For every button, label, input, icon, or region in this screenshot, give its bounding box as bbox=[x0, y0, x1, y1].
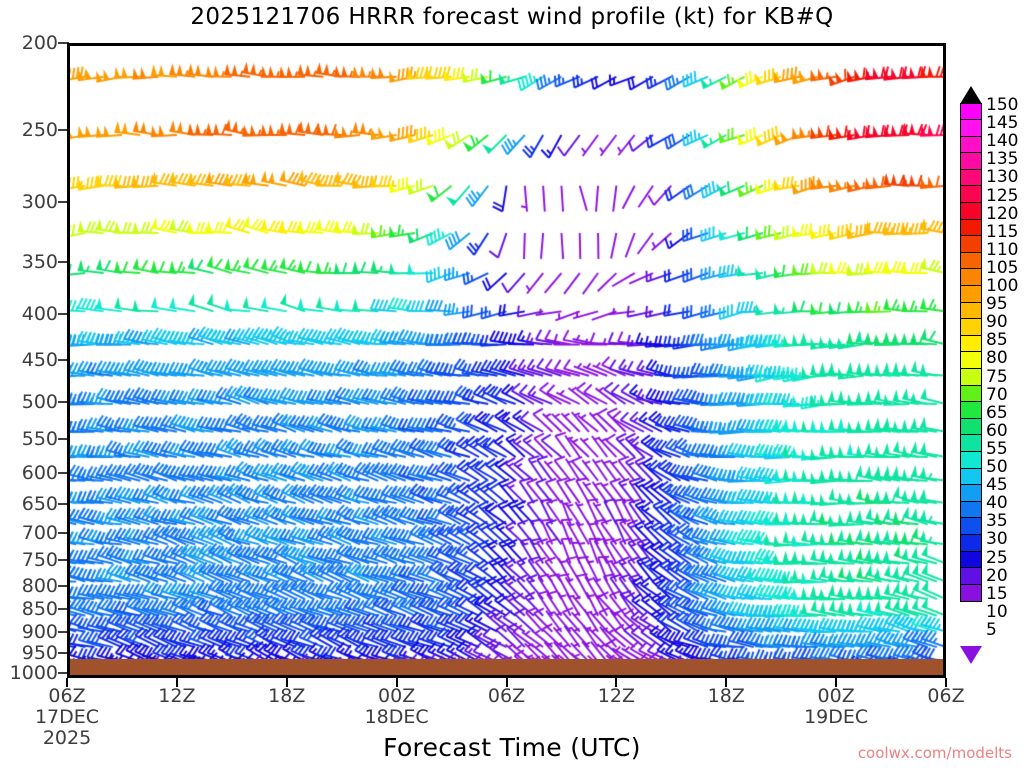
colorbar-cell bbox=[960, 268, 982, 286]
y-tick-label: 500 bbox=[22, 391, 58, 413]
x-tick-date: 18DEC bbox=[365, 706, 429, 728]
colorbar-cell bbox=[960, 335, 982, 353]
colorbar-tick-label: 30 bbox=[986, 529, 1008, 549]
page-title: 2025121706 HRRR forecast wind profile (k… bbox=[0, 4, 1024, 30]
colorbar-under-arrow-icon bbox=[960, 646, 982, 664]
colorbar-tick-label: 110 bbox=[986, 240, 1018, 260]
y-tick-label: 400 bbox=[22, 303, 58, 325]
colorbar-tick-label: 85 bbox=[986, 330, 1008, 350]
colorbar-cell bbox=[960, 418, 982, 436]
colorbar-tick-label: 105 bbox=[986, 258, 1018, 278]
colorbar-tick-label: 90 bbox=[986, 312, 1008, 332]
colorbar-tick-label: 150 bbox=[986, 95, 1018, 115]
x-tick-label: 06Z bbox=[927, 685, 964, 707]
colorbar-tick-label: 125 bbox=[986, 186, 1018, 206]
colorbar-tick-label: 70 bbox=[986, 385, 1008, 405]
x-tick-date: 19DEC bbox=[804, 706, 868, 728]
colorbar-cell bbox=[960, 136, 982, 154]
colorbar-tick-label: 45 bbox=[986, 475, 1008, 495]
x-tick-label: 18Z bbox=[268, 685, 305, 707]
colorbar-cell bbox=[960, 252, 982, 270]
terrain-band bbox=[70, 659, 943, 675]
plot-area[interactable] bbox=[67, 43, 946, 678]
colorbar-cell bbox=[960, 219, 982, 237]
colorbar-tick-label: 35 bbox=[986, 511, 1008, 531]
colorbar-cell bbox=[960, 185, 982, 203]
y-tick-label: 800 bbox=[22, 575, 58, 597]
colorbar-cell bbox=[960, 434, 982, 452]
colorbar-cell bbox=[960, 285, 982, 303]
colorbar-cell bbox=[960, 551, 982, 569]
colorbar-tick-label: 55 bbox=[986, 439, 1008, 459]
y-tick-label: 450 bbox=[22, 349, 58, 371]
colorbar-strip bbox=[960, 104, 982, 602]
colorbar-tick-label: 140 bbox=[986, 131, 1018, 151]
colorbar-cell bbox=[960, 169, 982, 187]
colorbar-cell bbox=[960, 385, 982, 403]
colorbar-tick-label: 65 bbox=[986, 403, 1008, 423]
colorbar-tick-label: 130 bbox=[986, 167, 1018, 187]
x-tick-label: 12Z bbox=[598, 685, 635, 707]
colorbar-cell bbox=[960, 103, 982, 121]
colorbar-cell bbox=[960, 567, 982, 585]
x-tick-label: 12Z bbox=[158, 685, 195, 707]
y-tick-label: 900 bbox=[22, 621, 58, 643]
y-tick-label: 950 bbox=[22, 642, 58, 664]
colorbar-cell bbox=[960, 484, 982, 502]
colorbar-tick-label: 5 bbox=[986, 620, 997, 640]
colorbar-over-arrow-icon bbox=[960, 86, 982, 104]
y-tick-label: 700 bbox=[22, 522, 58, 544]
colorbar-tick-label: 95 bbox=[986, 294, 1008, 314]
y-tick-label: 200 bbox=[22, 32, 58, 54]
colorbar-cell bbox=[960, 501, 982, 519]
colorbar-cell bbox=[960, 401, 982, 419]
colorbar-cell bbox=[960, 119, 982, 137]
colorbar-cell bbox=[960, 202, 982, 220]
x-tick-date: 17DEC bbox=[35, 706, 99, 728]
colorbar-tick-label: 20 bbox=[986, 566, 1008, 586]
colorbar-cell bbox=[960, 351, 982, 369]
colorbar-tick-label: 135 bbox=[986, 149, 1018, 169]
colorbar-tick-label: 10 bbox=[986, 602, 1008, 622]
y-tick-label: 550 bbox=[22, 428, 58, 450]
colorbar-tick-label: 145 bbox=[986, 113, 1018, 133]
y-tick-label: 600 bbox=[22, 462, 58, 484]
colorbar-cell bbox=[960, 451, 982, 469]
y-tick-label: 350 bbox=[22, 251, 58, 273]
x-tick-label: 00Z bbox=[818, 685, 855, 707]
y-tick-label: 300 bbox=[22, 191, 58, 213]
y-tick-label: 850 bbox=[22, 598, 58, 620]
y-tick-label: 750 bbox=[22, 549, 58, 571]
colorbar-cell bbox=[960, 152, 982, 170]
colorbar-tick-label: 15 bbox=[986, 584, 1008, 604]
x-tick-label: 06Z bbox=[48, 685, 85, 707]
colorbar-cell bbox=[960, 584, 982, 602]
colorbar-tick-label: 120 bbox=[986, 204, 1018, 224]
colorbar-cell bbox=[960, 468, 982, 486]
y-tick-label: 1000 bbox=[10, 662, 58, 684]
x-tick-label: 06Z bbox=[488, 685, 525, 707]
colorbar-cell bbox=[960, 368, 982, 386]
colorbar-tick-label: 25 bbox=[986, 548, 1008, 568]
x-tick-label: 00Z bbox=[378, 685, 415, 707]
colorbar-cell bbox=[960, 534, 982, 552]
watermark: coolwx.com/modelts bbox=[858, 744, 1012, 762]
colorbar-tick-label: 115 bbox=[986, 222, 1018, 242]
colorbar-cell bbox=[960, 302, 982, 320]
y-tick-label: 250 bbox=[22, 119, 58, 141]
colorbar-tick-label: 100 bbox=[986, 276, 1018, 296]
colorbar-cell bbox=[960, 235, 982, 253]
colorbar-tick-label: 60 bbox=[986, 421, 1008, 441]
colorbar-cell bbox=[960, 517, 982, 535]
y-tick-label: 650 bbox=[22, 493, 58, 515]
color-legend[interactable]: 1501451401351301251201151101051009590858… bbox=[960, 86, 1024, 660]
colorbar-tick-label: 40 bbox=[986, 493, 1008, 513]
x-tick-label: 18Z bbox=[708, 685, 745, 707]
colorbar-tick-label: 50 bbox=[986, 457, 1008, 477]
colorbar-tick-label: 80 bbox=[986, 348, 1008, 368]
colorbar-cell bbox=[960, 318, 982, 336]
wind-barb-field bbox=[70, 46, 943, 675]
colorbar-tick-label: 75 bbox=[986, 367, 1008, 387]
